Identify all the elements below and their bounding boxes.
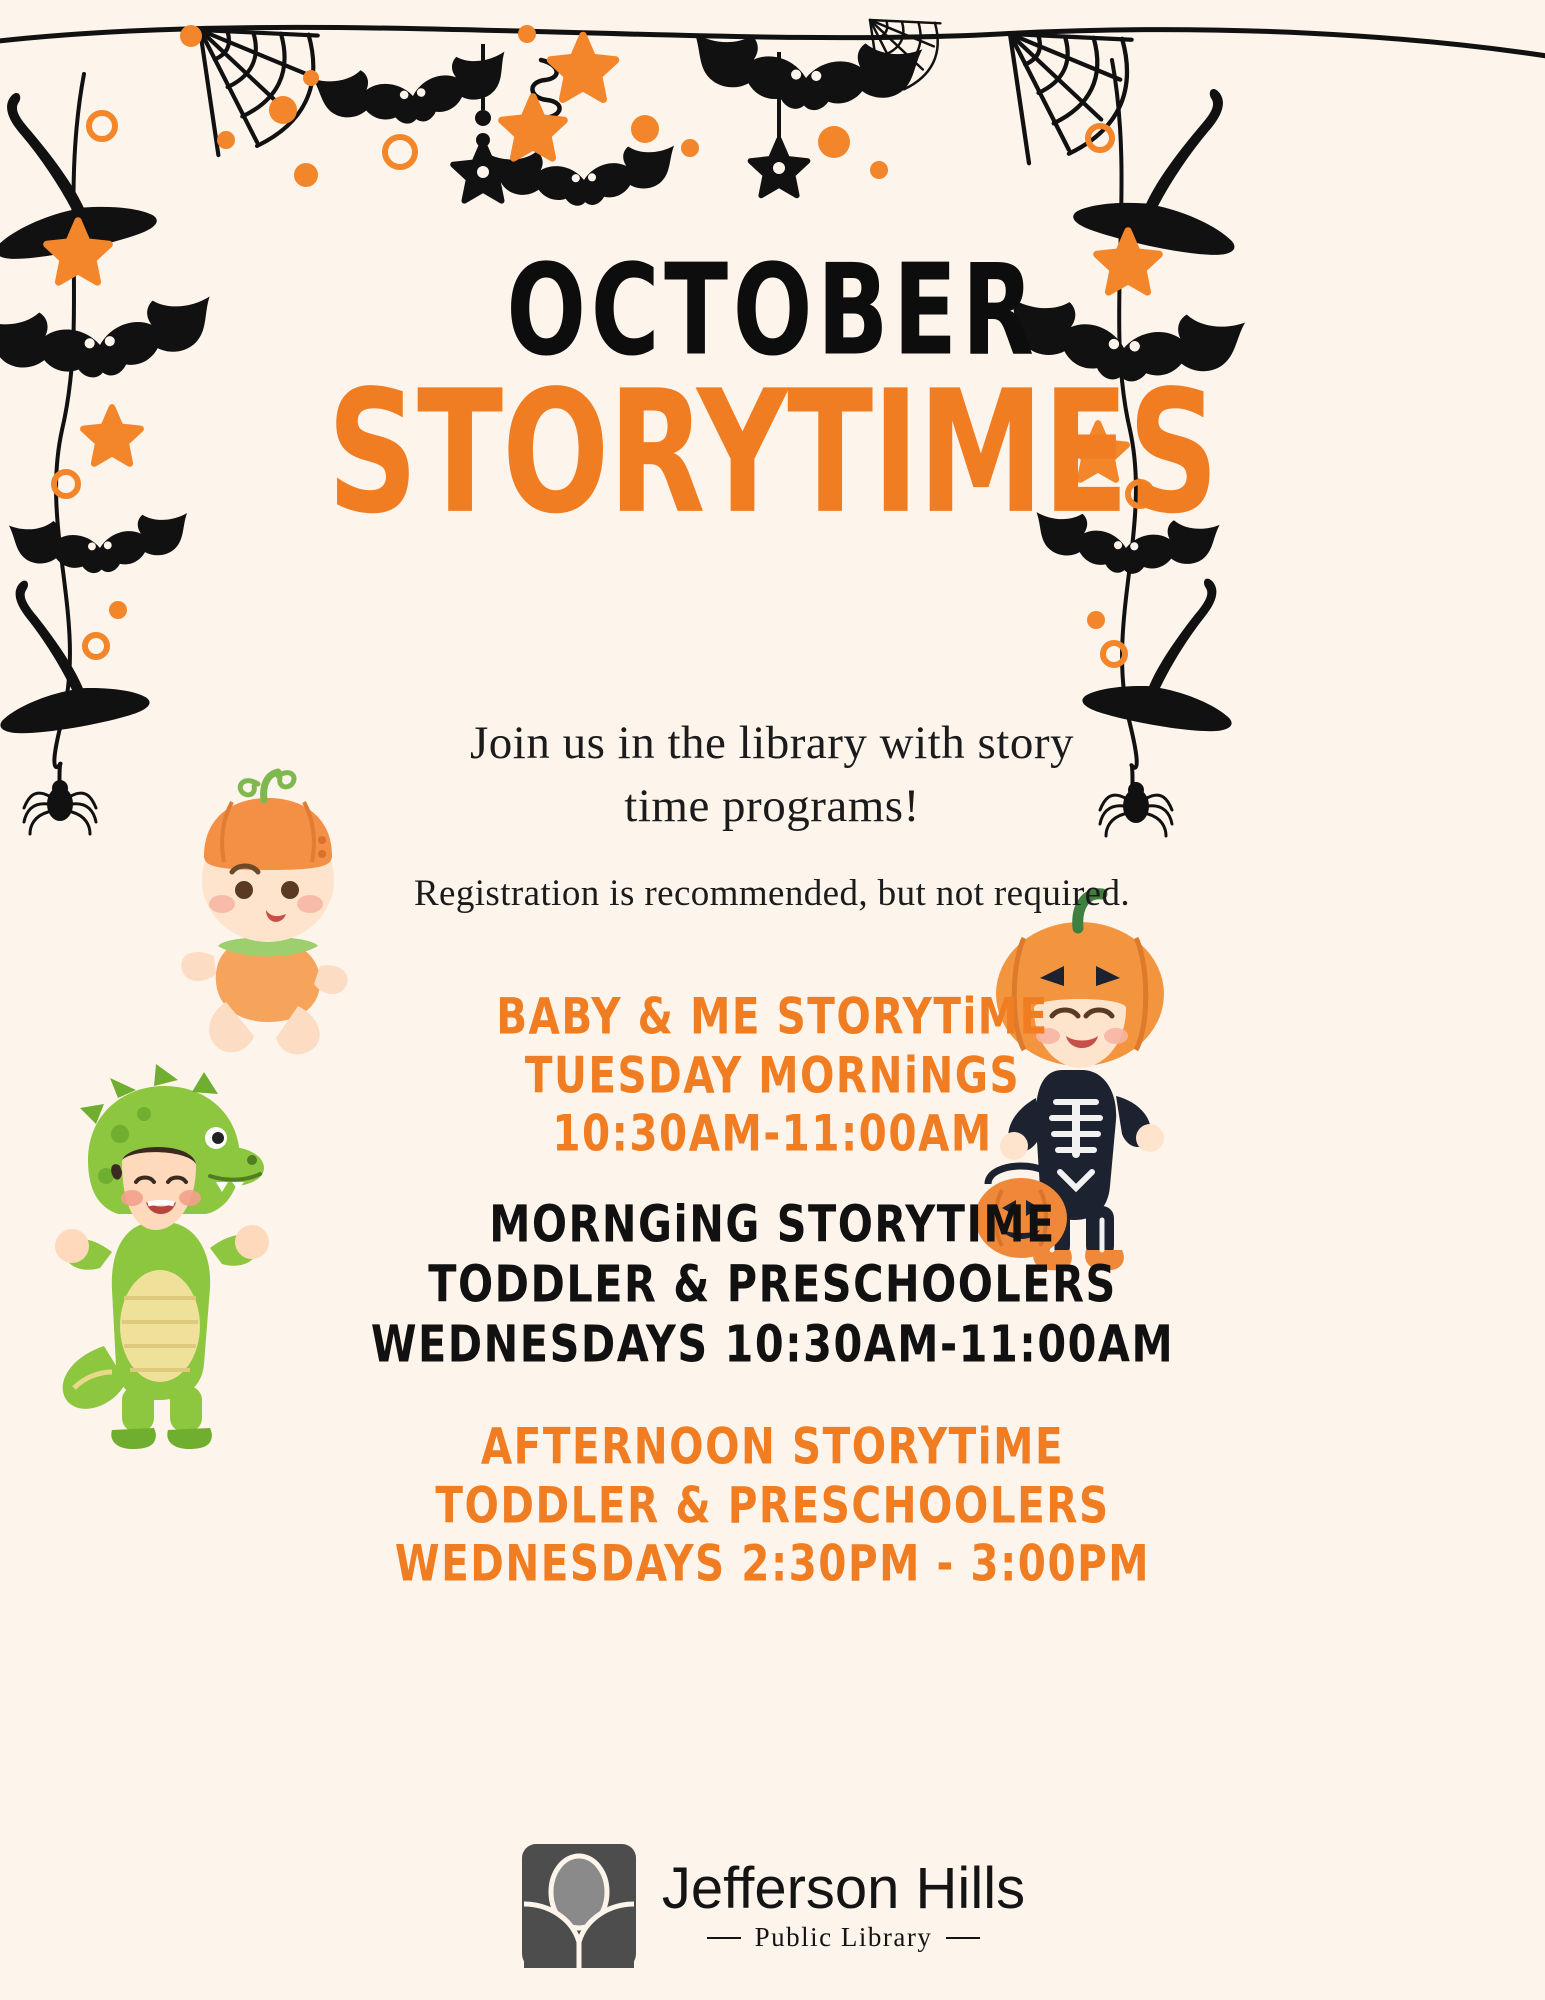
registration-note: Registration is recommended, but not req… bbox=[122, 872, 1422, 915]
program-audience: TODDLER & PRESCHOOLERS bbox=[235, 1252, 1310, 1318]
program-title: MORNGiNG STORYTIME bbox=[235, 1192, 1310, 1258]
program-day-time: WEDNESDAYS 2:30PM - 3:00PM bbox=[235, 1532, 1310, 1596]
library-logo-mark bbox=[520, 1842, 638, 1970]
program-day-time: WEDNESDAYS 10:30AM-11:00AM bbox=[235, 1312, 1310, 1378]
title-block: OCTOBER STORYTIMES bbox=[0, 248, 1545, 511]
intro-line-2: time programs! bbox=[624, 780, 919, 832]
intro-line-1: Join us in the library with story bbox=[470, 717, 1074, 769]
logo-rule-left bbox=[707, 1937, 741, 1939]
logo-rule-right bbox=[946, 1937, 980, 1939]
poster-content: OCTOBER STORYTIMES Join us in the librar… bbox=[0, 0, 1545, 2000]
library-logo: Jefferson Hills Public Library bbox=[0, 1842, 1545, 1970]
program-title: AFTERNOON STORYTiME bbox=[235, 1415, 1310, 1479]
library-subtitle-row: Public Library bbox=[707, 1922, 981, 1953]
poster-canvas: OCTOBER STORYTIMES Join us in the librar… bbox=[0, 0, 1545, 2000]
library-name: Jefferson Hills bbox=[662, 1859, 1025, 1918]
program-afternoon-storytime: AFTERNOON STORYTiME TODDLER & PRESCHOOLE… bbox=[235, 1418, 1310, 1594]
program-baby-and-me: BABY & ME STORYTiME TUESDAY MORNiNGS 10:… bbox=[235, 988, 1310, 1164]
program-audience: TODDLER & PRESCHOOLERS bbox=[235, 1474, 1310, 1538]
program-day: TUESDAY MORNiNGS bbox=[235, 1044, 1310, 1108]
library-subtitle: Public Library bbox=[755, 1922, 933, 1953]
library-logo-text: Jefferson Hills Public Library bbox=[662, 1859, 1025, 1953]
program-title: BABY & ME STORYTiME bbox=[235, 985, 1310, 1049]
page-title-storytimes: STORYTIMES bbox=[31, 374, 1514, 533]
intro-paragraph: Join us in the library with story time p… bbox=[272, 712, 1272, 838]
program-time: 10:30AM-11:00AM bbox=[235, 1102, 1310, 1166]
program-morning-storytime: MORNGiNG STORYTIME TODDLER & PRESCHOOLER… bbox=[235, 1195, 1310, 1374]
